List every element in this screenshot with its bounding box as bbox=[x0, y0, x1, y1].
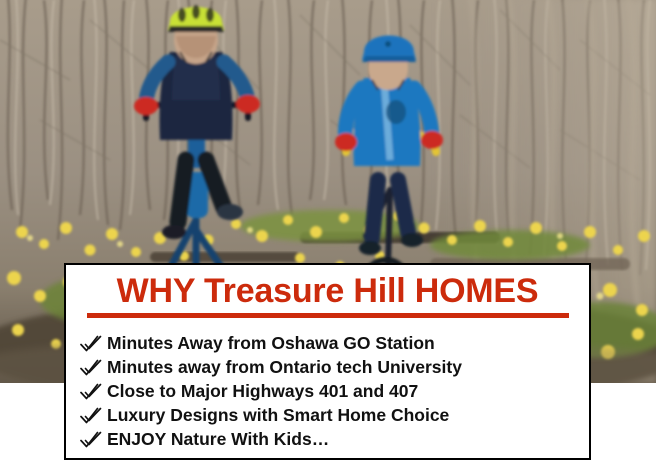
double-check-icon bbox=[80, 383, 102, 401]
list-item-label: Luxury Designs with Smart Home Choice bbox=[107, 407, 449, 425]
benefits-list: Minutes Away from Oshawa GO Station Minu… bbox=[66, 318, 589, 449]
list-item: Minutes Away from Oshawa GO Station bbox=[80, 335, 589, 353]
double-check-icon bbox=[80, 335, 102, 353]
double-check-icon bbox=[80, 431, 102, 449]
list-item: Minutes away from Ontario tech Universit… bbox=[80, 359, 589, 377]
list-item-label: ENJOY Nature With Kids… bbox=[107, 431, 329, 449]
list-item: Close to Major Highways 401 and 407 bbox=[80, 383, 589, 401]
marketing-slide: WHY Treasure Hill HOMES Minutes Away fro… bbox=[0, 0, 656, 468]
list-item-label: Minutes away from Ontario tech Universit… bbox=[107, 359, 462, 377]
list-item-label: Close to Major Highways 401 and 407 bbox=[107, 383, 418, 401]
page-title: WHY Treasure Hill HOMES bbox=[66, 265, 589, 310]
list-item: Luxury Designs with Smart Home Choice bbox=[80, 407, 589, 425]
double-check-icon bbox=[80, 359, 102, 377]
list-item-label: Minutes Away from Oshawa GO Station bbox=[107, 335, 435, 353]
why-treasure-hill-callout-panel: WHY Treasure Hill HOMES Minutes Away fro… bbox=[64, 263, 591, 460]
list-item: ENJOY Nature With Kids… bbox=[80, 431, 589, 449]
double-check-icon bbox=[80, 407, 102, 425]
